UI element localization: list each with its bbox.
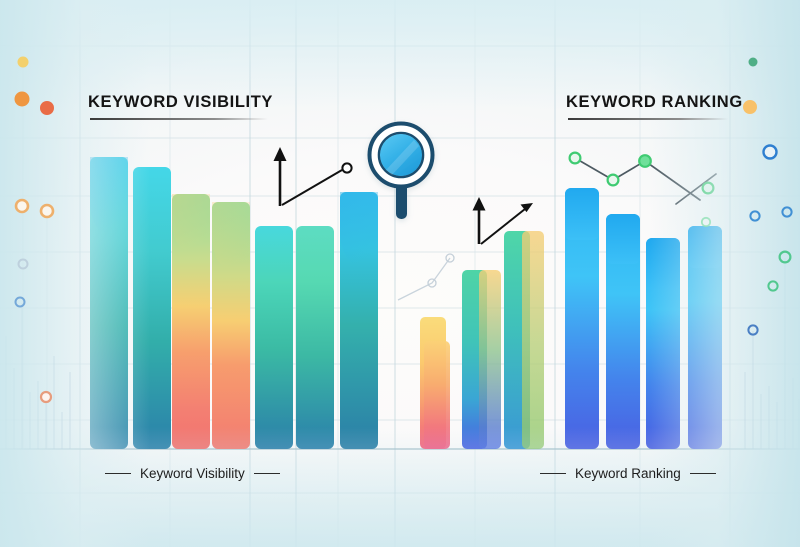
caption-dash-right — [690, 473, 716, 474]
caption-dash-right — [254, 473, 280, 474]
caption-label: Keyword Visibility — [140, 466, 245, 481]
decor-dots-left — [15, 57, 55, 403]
caption-dash-left — [105, 473, 131, 474]
decor-dots-layer — [0, 0, 800, 547]
page-title-keyword-ranking: KEYWORD RANKING — [566, 93, 743, 112]
decor-dot-ring — [16, 200, 28, 212]
decor-dot — [15, 92, 30, 107]
decor-dot-ring — [41, 392, 51, 402]
title-underline-right — [568, 118, 728, 120]
decor-dot-ring — [41, 205, 53, 217]
axis-caption-keyword-visibility: Keyword Visibility — [105, 466, 280, 481]
page-title-keyword-visibility: KEYWORD VISIBILITY — [88, 93, 273, 112]
decor-dot — [40, 101, 54, 115]
decor-dot — [749, 58, 758, 67]
axis-caption-keyword-ranking: Keyword Ranking — [540, 466, 716, 481]
decor-dot-ring — [750, 211, 759, 220]
decor-dot-ring — [768, 281, 777, 290]
illustration-canvas: KEYWORD VISIBILITY KEYWORD RANKING Keywo… — [0, 0, 800, 547]
decor-dots-right — [743, 58, 792, 335]
decor-dot-ring — [780, 252, 791, 263]
title-underline-left — [90, 118, 268, 120]
decor-dot-ring — [16, 298, 25, 307]
caption-dash-left — [540, 473, 566, 474]
decor-dot-ring — [748, 325, 757, 334]
caption-label: Keyword Ranking — [575, 466, 681, 481]
decor-dot-ring — [19, 260, 28, 269]
decor-dot-ring — [764, 146, 777, 159]
decor-dot — [18, 57, 29, 68]
decor-dot — [743, 100, 757, 114]
decor-dot-ring — [782, 207, 791, 216]
